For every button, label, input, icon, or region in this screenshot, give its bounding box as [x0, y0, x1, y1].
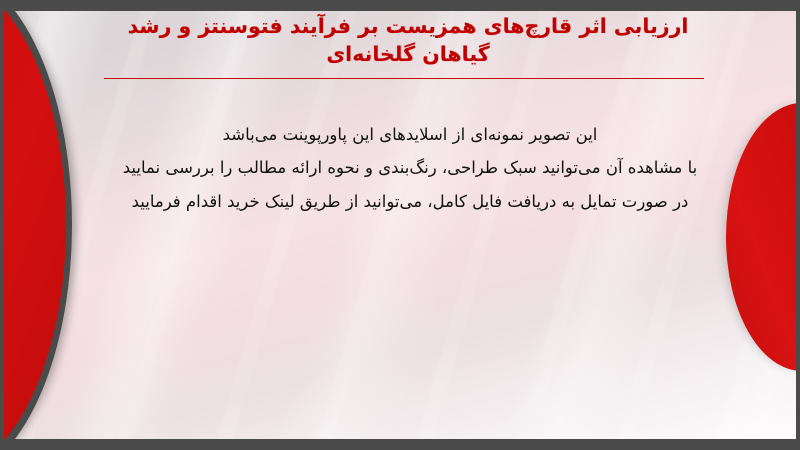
presentation-slide: ارزیابی اثر قارچ‌های همزیست بر فرآیند فت…	[0, 0, 800, 450]
body-text-block: این تصویر نمونه‌ای از اسلایدهای این پاور…	[110, 118, 710, 218]
title-block: ارزیابی اثر قارچ‌های همزیست بر فرآیند فت…	[112, 12, 704, 79]
body-line-2: با مشاهده آن می‌توانید سبک طراحی، رنگ‌بن…	[110, 151, 710, 184]
title-divider-rule	[104, 78, 704, 79]
body-line-3: در صورت تمایل به دریافت فایل کامل، می‌تو…	[110, 185, 710, 218]
slide-title: ارزیابی اثر قارچ‌های همزیست بر فرآیند فت…	[112, 12, 704, 69]
frame-band-left	[0, 0, 4, 450]
frame-band-bottom	[0, 439, 800, 450]
frame-band-right	[796, 0, 800, 450]
frame-band-top	[0, 0, 800, 11]
body-line-1: این تصویر نمونه‌ای از اسلایدهای این پاور…	[110, 118, 710, 151]
